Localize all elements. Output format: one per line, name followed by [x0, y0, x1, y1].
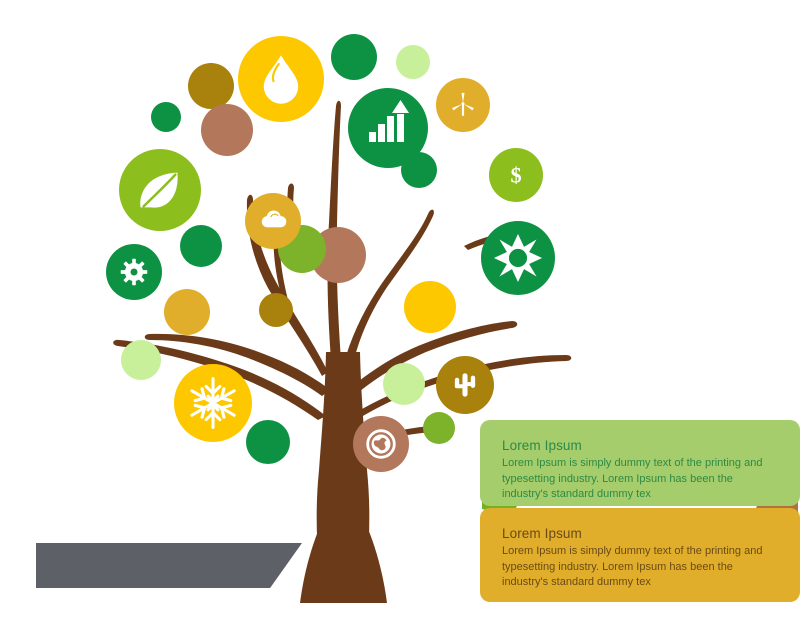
title-banner-label: TREE INFOGRAPHIC: [22, 10, 249, 36]
callout-gold-title: Lorem Ipsum: [502, 526, 778, 541]
callout-green[interactable]: Lorem Ipsum Lorem Ipsum is simply dummy …: [480, 420, 800, 506]
dollar-icon-circle[interactable]: [489, 148, 543, 202]
decorative-circle: [164, 289, 210, 335]
wind-turbine-icon-circle[interactable]: [436, 78, 490, 132]
decorative-circle: [188, 63, 234, 109]
callout-green-body: Lorem Ipsum is simply dummy text of the …: [502, 456, 770, 503]
callout-gold[interactable]: Lorem Ipsum Lorem Ipsum is simply dummy …: [480, 508, 800, 602]
infographic-canvas: $: [0, 0, 800, 623]
sun-icon-circle[interactable]: [481, 221, 555, 295]
callout-gold-body: Lorem Ipsum is simply dummy text of the …: [502, 544, 770, 591]
decorative-circle: [396, 45, 430, 79]
decorative-circle: [331, 34, 377, 80]
snowflake-icon-circle[interactable]: [174, 364, 252, 442]
decorative-circle: [404, 281, 456, 333]
dollar-icon: [510, 162, 521, 187]
cactus-icon-circle[interactable]: [436, 356, 494, 414]
decorative-circle: [383, 363, 425, 405]
gear-icon-circle[interactable]: [106, 244, 162, 300]
globe-icon-circle[interactable]: [353, 416, 409, 472]
decorative-circle: [423, 412, 455, 444]
gear-icon: [121, 259, 148, 286]
decorative-circle: [201, 104, 253, 156]
callout-green-title: Lorem Ipsum: [502, 438, 778, 453]
sun-icon: [494, 234, 542, 282]
decorative-circle: [246, 420, 290, 464]
decorative-circle: [121, 340, 161, 380]
growth-chart-icon-circle[interactable]: [348, 88, 428, 168]
decorative-circle: [151, 102, 181, 132]
leaf-icon-circle[interactable]: [119, 149, 201, 231]
globe-icon: [368, 431, 395, 458]
cloud-icon-circle[interactable]: [245, 193, 301, 249]
water-drop-icon-circle[interactable]: [238, 36, 324, 122]
decorative-circle: [259, 293, 293, 327]
decorative-circle: [180, 225, 222, 267]
title-banner: [36, 543, 302, 588]
